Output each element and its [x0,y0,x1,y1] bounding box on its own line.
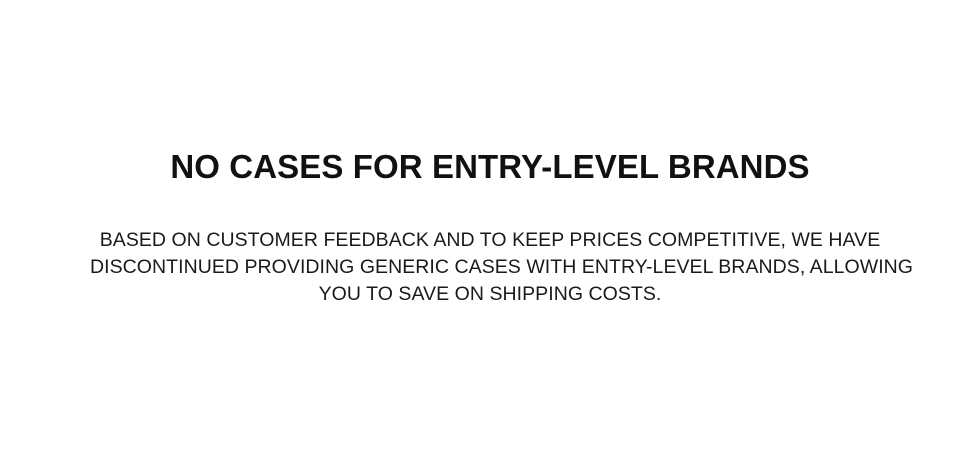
page-root: NO CASES FOR ENTRY-LEVEL BRANDS BASED ON… [0,0,980,450]
info-notice-block: NO CASES FOR ENTRY-LEVEL BRANDS BASED ON… [0,0,980,450]
page-title: NO CASES FOR ENTRY-LEVEL BRANDS [0,147,980,187]
notice-body-line-2: DISCONTINUED PROVIDING GENERIC CASES WIT… [90,254,890,281]
notice-body-line-1: BASED ON CUSTOMER FEEDBACK AND TO KEEP P… [90,227,890,254]
notice-body-line-3: YOU TO SAVE ON SHIPPING COSTS. [90,281,890,308]
notice-body-text: BASED ON CUSTOMER FEEDBACK AND TO KEEP P… [90,227,890,308]
